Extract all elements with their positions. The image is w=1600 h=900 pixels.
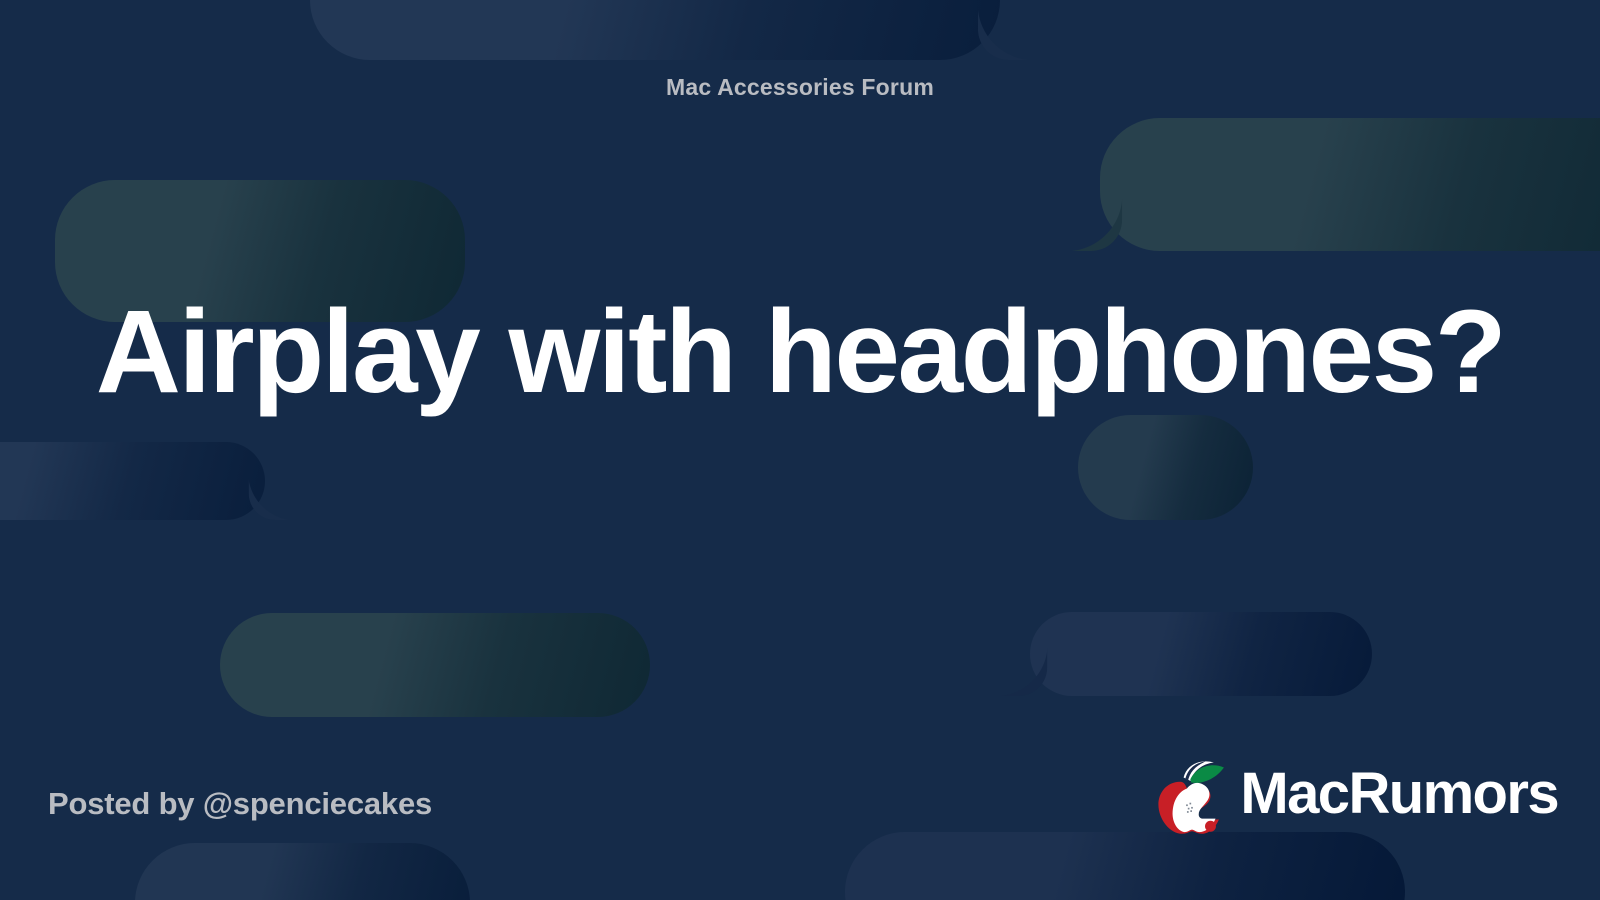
post-byline: Posted by @spenciecakes [48, 786, 432, 822]
social-share-card: Mac Accessories Forum Airplay with headp… [0, 0, 1600, 900]
post-title: Airplay with headphones? [90, 286, 1510, 418]
macrumors-wordmark: MacRumors [1240, 765, 1558, 823]
macrumors-brand-lockup: MacRumors [1150, 754, 1558, 838]
forum-label: Mac Accessories Forum [0, 74, 1600, 101]
macrumors-apple-logo-icon [1150, 754, 1234, 838]
